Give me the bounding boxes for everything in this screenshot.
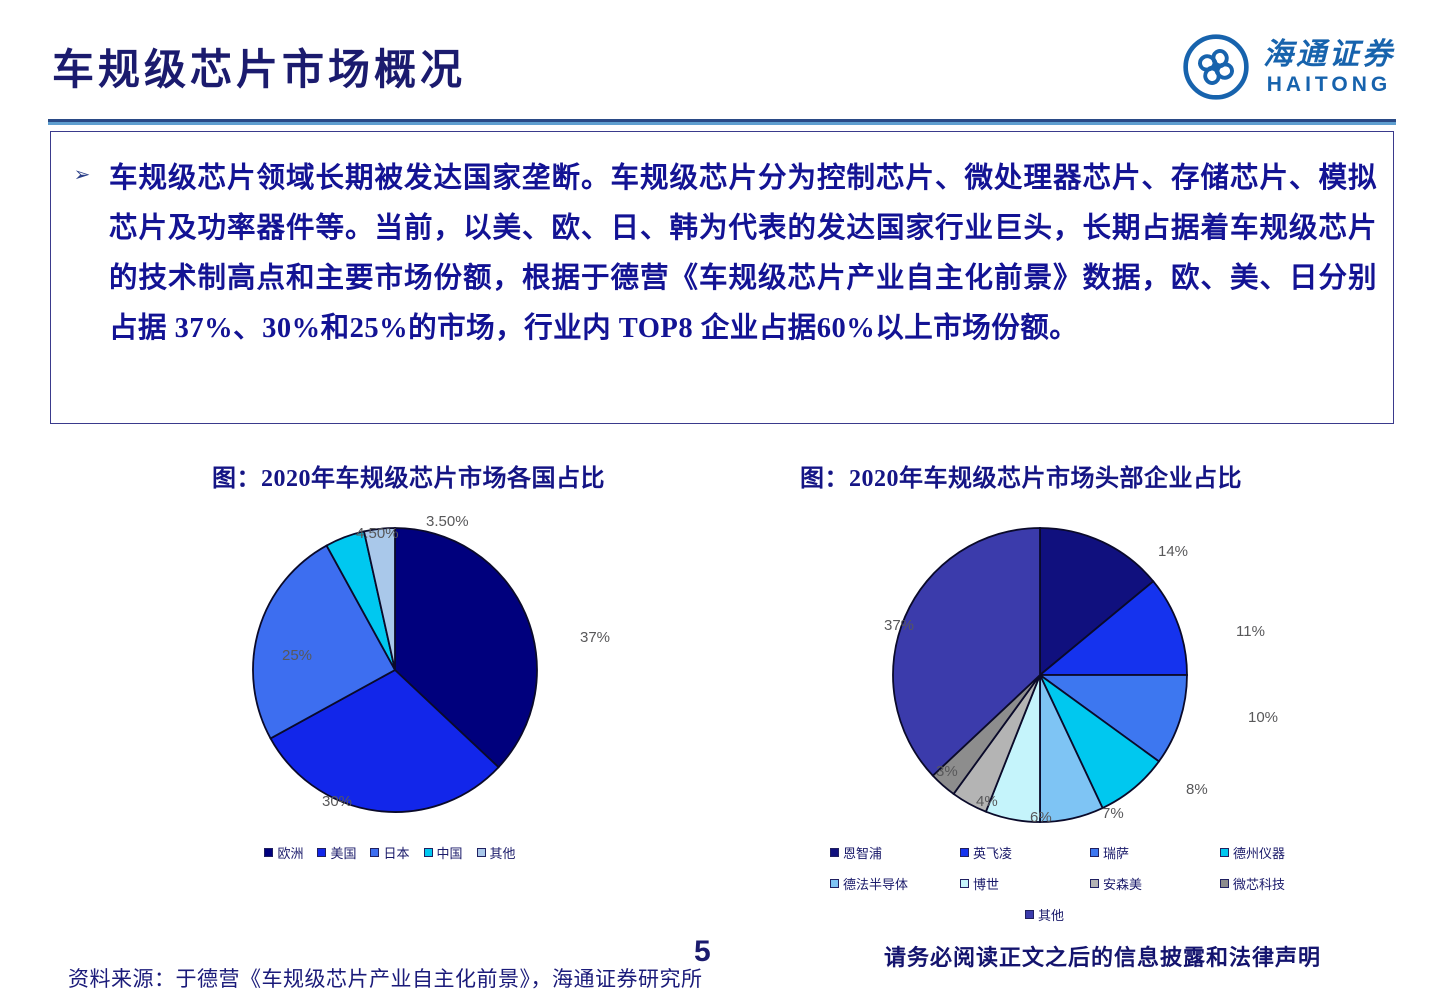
- pie-label-right-1: 11%: [1236, 623, 1265, 640]
- chart-caption-left: 图：2020年车规级芯片市场各国占比: [212, 458, 605, 493]
- legend-item-company-6[interactable]: 安森美: [1090, 874, 1220, 893]
- legend-swatch-icon: [960, 848, 969, 857]
- summary-paragraph: 车规级芯片领域长期被发达国家垄断。车规级芯片分为控制芯片、微处理器芯片、存储芯片…: [109, 154, 1377, 354]
- legend-item-company-8[interactable]: 其他: [1025, 905, 1155, 924]
- legend-swatch-icon: [264, 848, 273, 857]
- legend-swatch-icon: [477, 848, 486, 857]
- pie-wrap-left: 37% 30% 25% 4.50% 3.50%: [60, 505, 720, 835]
- legend-item-company-2[interactable]: 瑞萨: [1090, 843, 1220, 862]
- legend-label: 安森美: [1103, 874, 1142, 893]
- legend-item-country-0[interactable]: 欧洲: [264, 843, 303, 862]
- legend-swatch-icon: [1220, 848, 1229, 857]
- legend-swatch-icon: [424, 848, 433, 857]
- legend-label: 中国: [437, 843, 463, 862]
- legend-item-company-4[interactable]: 德法半导体: [830, 874, 960, 893]
- pie-label-right-4: 7%: [1102, 805, 1124, 822]
- header-divider-light: [48, 122, 1396, 125]
- source-note: 资料来源：于德营《车规级芯片产业自主化前景》，海通证券研究所: [68, 963, 703, 993]
- legend-label: 日本: [383, 843, 409, 862]
- pie-chart-company-share: [890, 525, 1190, 825]
- chart-caption-right: 图：2020年车规级芯片市场头部企业占比: [800, 458, 1242, 493]
- haitong-swirl-logo-icon: [1183, 34, 1249, 100]
- legend-label: 英飞凌: [973, 843, 1012, 862]
- legend-item-country-4[interactable]: 其他: [477, 843, 516, 862]
- pie-label-right-5: 6%: [1030, 809, 1052, 826]
- pie-label-right-8: 37%: [884, 617, 914, 634]
- legend-country-share: 欧洲美国日本中国其他: [60, 843, 720, 862]
- pie-label-left-0: 37%: [580, 629, 610, 646]
- pie-label-left-2: 25%: [282, 647, 312, 664]
- legend-label: 微芯科技: [1233, 874, 1285, 893]
- bullet-row: ➢ 车规级芯片领域长期被发达国家垄断。车规级芯片分为控制芯片、微处理器芯片、存储…: [65, 154, 1377, 354]
- legend-swatch-icon: [830, 848, 839, 857]
- pie-wrap-right: 14% 11% 10% 8% 7% 6% 4% 3% 37%: [740, 505, 1400, 835]
- legend-label: 德州仪器: [1233, 843, 1285, 862]
- bullet-arrow-icon: ➢: [65, 162, 99, 187]
- legend-swatch-icon: [1090, 848, 1099, 857]
- logo-wordmark: 海通证券 HAITONG: [1263, 40, 1395, 95]
- summary-text-box: ➢ 车规级芯片领域长期被发达国家垄断。车规级芯片分为控制芯片、微处理器芯片、存储…: [50, 131, 1394, 424]
- page-title: 车规级芯片市场概况: [52, 36, 466, 97]
- legend-label: 其他: [1038, 905, 1064, 924]
- brand-logo: 海通证券 HAITONG: [1183, 34, 1395, 100]
- legend-label: 其他: [490, 843, 516, 862]
- legend-label: 欧洲: [277, 843, 303, 862]
- legend-item-company-0[interactable]: 恩智浦: [830, 843, 960, 862]
- legend-item-company-7[interactable]: 微芯科技: [1220, 874, 1350, 893]
- pie-label-left-1: 30%: [322, 793, 352, 810]
- pie-label-left-4: 3.50%: [426, 513, 469, 530]
- legend-label: 恩智浦: [843, 843, 882, 862]
- legend-swatch-icon: [1090, 879, 1099, 888]
- legend-item-country-3[interactable]: 中国: [424, 843, 463, 862]
- slide-root: 车规级芯片市场概况 海通证券 HAITONG ➢ 车规级芯片领域长期被发达国家垄…: [0, 0, 1443, 997]
- pie-label-right-2: 10%: [1248, 709, 1278, 726]
- pie-label-left-3: 4.50%: [356, 525, 399, 542]
- legend-swatch-icon: [1220, 879, 1229, 888]
- legend-item-country-1[interactable]: 美国: [317, 843, 356, 862]
- legend-label: 美国: [330, 843, 356, 862]
- legend-swatch-icon: [960, 879, 969, 888]
- pie-label-right-3: 8%: [1186, 781, 1208, 798]
- legend-label: 博世: [973, 874, 999, 893]
- legend-swatch-icon: [370, 848, 379, 857]
- pie-label-right-6: 4%: [976, 793, 998, 810]
- disclaimer-note: 请务必阅读正文之后的信息披露和法律声明: [884, 940, 1321, 972]
- pie-chart-country-share: [250, 525, 540, 815]
- legend-item-company-1[interactable]: 英飞凌: [960, 843, 1090, 862]
- legend-item-company-5[interactable]: 博世: [960, 874, 1090, 893]
- legend-item-company-3[interactable]: 德州仪器: [1220, 843, 1350, 862]
- logo-english-name: HAITONG: [1267, 74, 1391, 95]
- legend-swatch-icon: [317, 848, 326, 857]
- legend-swatch-icon: [830, 879, 839, 888]
- pie-label-right-7: 3%: [936, 763, 958, 780]
- legend-item-country-2[interactable]: 日本: [370, 843, 409, 862]
- legend-swatch-icon: [1025, 910, 1034, 919]
- chart-panel-company-share: 14% 11% 10% 8% 7% 6% 4% 3% 37% 恩智浦英飞凌瑞萨德…: [740, 505, 1400, 905]
- legend-label: 瑞萨: [1103, 843, 1129, 862]
- legend-company-share: 恩智浦英飞凌瑞萨德州仪器德法半导体博世安森美微芯科技其他: [830, 843, 1350, 924]
- chart-panel-country-share: 37% 30% 25% 4.50% 3.50% 欧洲美国日本中国其他: [60, 505, 720, 905]
- legend-label: 德法半导体: [843, 874, 908, 893]
- logo-chinese-name: 海通证券: [1263, 40, 1395, 70]
- pie-label-right-0: 14%: [1158, 543, 1188, 560]
